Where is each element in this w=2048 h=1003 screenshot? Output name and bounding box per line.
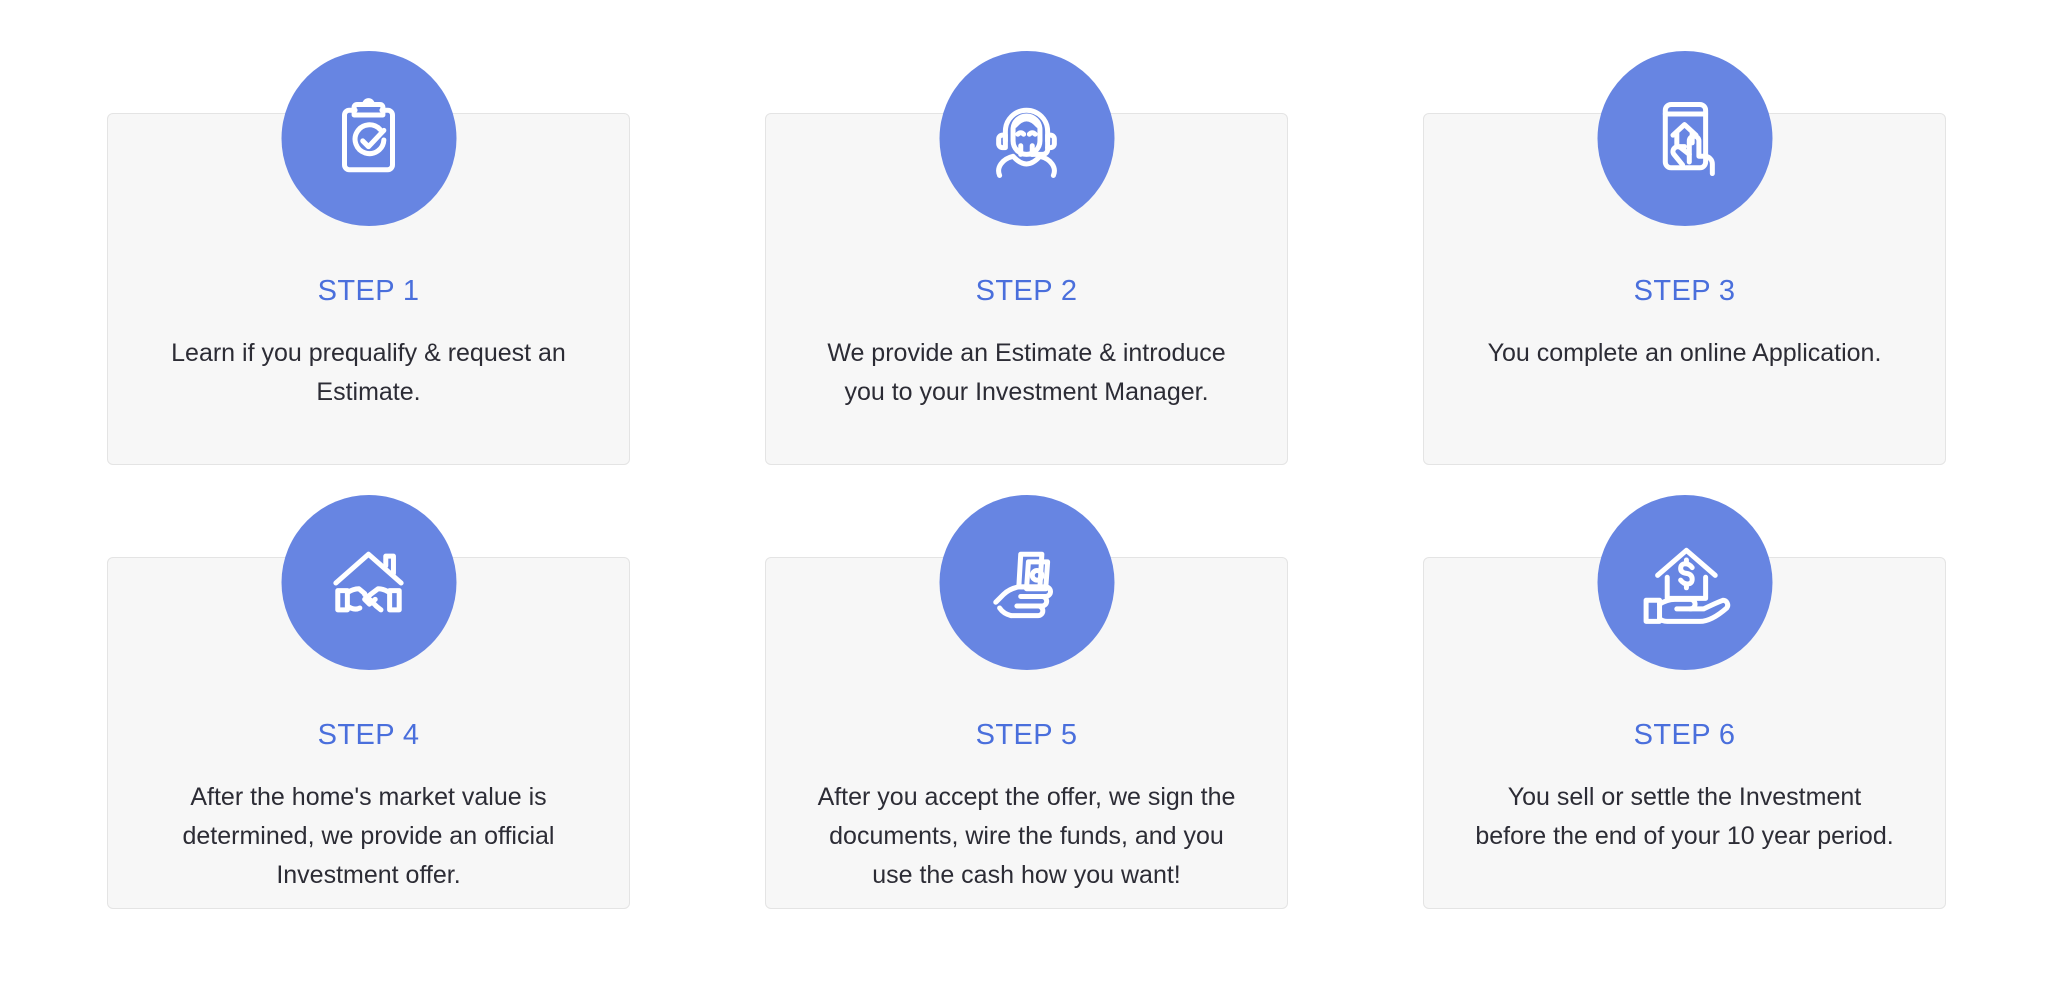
step-label: STEP 3 bbox=[1634, 277, 1736, 306]
step-card-3: STEP 3 You complete an online Applicatio… bbox=[1423, 113, 1946, 465]
step-label: STEP 1 bbox=[318, 277, 420, 306]
step-6-icon-badge bbox=[1597, 495, 1772, 670]
step-2-icon-badge bbox=[939, 51, 1114, 226]
step-4-icon-badge bbox=[281, 495, 456, 670]
step-5-icon-badge bbox=[939, 495, 1114, 670]
step-label: STEP 6 bbox=[1634, 721, 1736, 750]
step-description: After the home's market value is determi… bbox=[154, 778, 584, 895]
how-it-works-steps-section: STEP 1 Learn if you prequalify & request… bbox=[0, 0, 2048, 1003]
house-handshake-icon bbox=[321, 535, 417, 631]
step-description: After you accept the offer, we sign the … bbox=[812, 778, 1242, 895]
step-description: We provide an Estimate & introduce you t… bbox=[812, 334, 1242, 412]
step-card-1: STEP 1 Learn if you prequalify & request… bbox=[107, 113, 630, 465]
step-label: STEP 2 bbox=[976, 277, 1078, 306]
step-label: STEP 5 bbox=[976, 721, 1078, 750]
step-description: You complete an online Application. bbox=[1488, 334, 1882, 373]
support-agent-headset-icon bbox=[979, 91, 1075, 187]
step-label: STEP 4 bbox=[318, 721, 420, 750]
step-description: Learn if you prequalify & request an Est… bbox=[154, 334, 584, 412]
step-card-5: STEP 5 After you accept the offer, we si… bbox=[765, 557, 1288, 909]
hand-holding-house-dollar-icon bbox=[1637, 535, 1733, 631]
step-1-icon-badge bbox=[281, 51, 456, 226]
step-3-icon-badge bbox=[1597, 51, 1772, 226]
steps-grid: STEP 1 Learn if you prequalify & request… bbox=[107, 113, 1941, 909]
step-card-2: STEP 2 We provide an Estimate & introduc… bbox=[765, 113, 1288, 465]
hand-holding-cash-icon bbox=[979, 535, 1075, 631]
step-description: You sell or settle the Investment before… bbox=[1470, 778, 1900, 856]
step-card-4: STEP 4 After the home's market value is … bbox=[107, 557, 630, 909]
clipboard-check-icon bbox=[321, 91, 417, 187]
phone-house-tap-icon bbox=[1637, 91, 1733, 187]
step-card-6: STEP 6 You sell or settle the Investment… bbox=[1423, 557, 1946, 909]
